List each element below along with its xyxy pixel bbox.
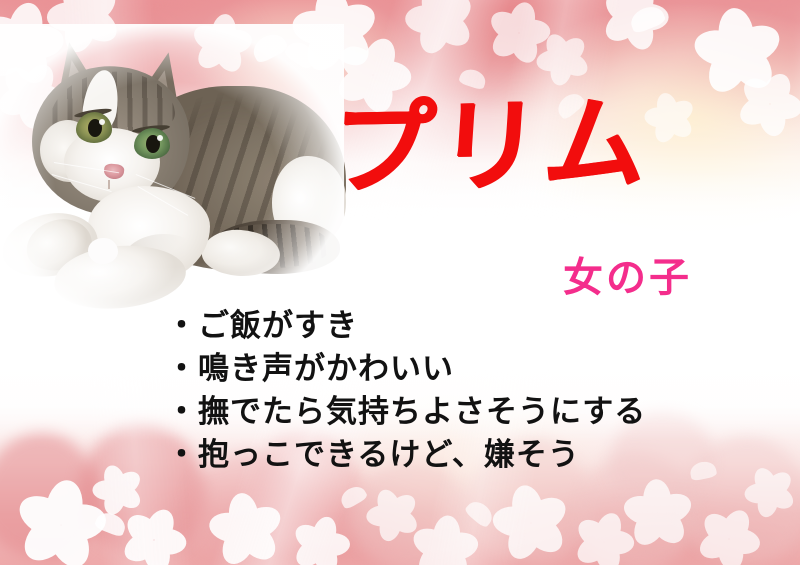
list-item: ・撫でたら気持ちよさそうにする [166,391,646,434]
pet-profile-poster: プリム 女の子 ・ご飯がすき ・鳴き声がかわいい ・撫でたら気持ちよさそうにする… [0,0,800,565]
pet-name-title: プリム [328,93,653,202]
list-item: ・抱っこできるけど、嫌そう [166,434,646,477]
cat-photo [0,24,344,312]
cat-paw-gap [88,238,118,264]
pet-traits-list: ・ご飯がすき ・鳴き声がかわいい ・撫でたら気持ちよさそうにする ・抱っこできる… [166,305,646,477]
list-item: ・ご飯がすき [166,305,646,348]
pet-gender-label: 女の子 [563,258,692,298]
list-item: ・鳴き声がかわいい [166,348,646,391]
cat-right-eye-glint [157,135,163,141]
cat-mouth [108,180,110,189]
cat-left-eye-glint [99,119,105,125]
